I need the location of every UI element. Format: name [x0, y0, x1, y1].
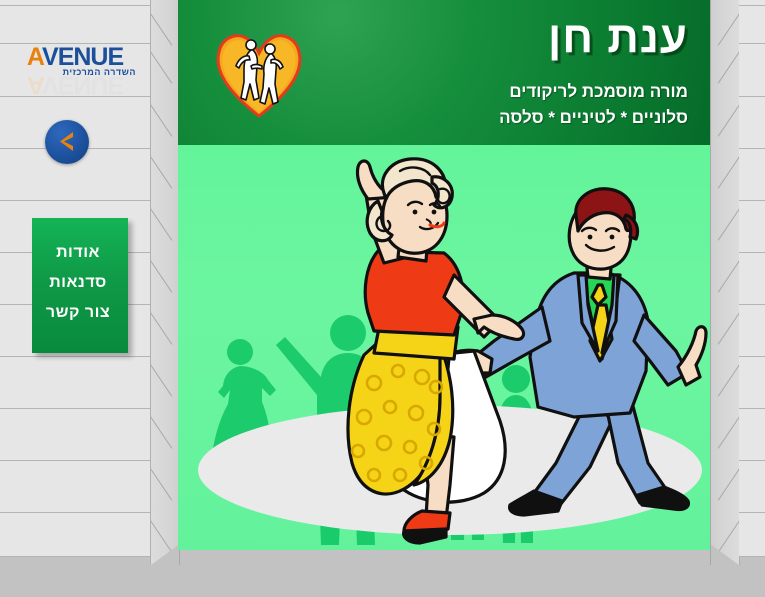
- page-title: ענת חן: [548, 16, 688, 60]
- page-root: AVENUE השדרה המרכזית AVENUE אודות סדנאות…: [0, 0, 765, 597]
- dancing-couple-illustration: [178, 145, 710, 550]
- header-subtitle-2: סלוניים * לטיניים * סלסה: [499, 108, 688, 128]
- back-button[interactable]: [45, 120, 89, 164]
- main-navigation: אודות סדנאות צור קשר: [32, 218, 128, 353]
- right-wall-side-perspective: [710, 0, 740, 565]
- avenue-logo-reflection-initial: A: [27, 71, 42, 99]
- avenue-logo-reflection: AVENUE: [8, 72, 142, 98]
- heart-with-dancing-couple-icon: [213, 22, 305, 120]
- hero-illustration: [178, 145, 710, 550]
- chevron-left-icon: [58, 132, 75, 151]
- avenue-logo-reflection-rest: VENUE: [42, 71, 123, 99]
- right-wall-face: [739, 0, 765, 557]
- site-header: ענת חן מורה מוסמכת לריקודים סלוניים * לט…: [178, 0, 710, 145]
- left-wall-side-perspective: [150, 0, 180, 565]
- nav-item-workshops[interactable]: סדנאות: [32, 268, 128, 298]
- avenue-logo-initial: A: [27, 43, 42, 71]
- header-subtitle-1: מורה מוסמכת לריקודים: [509, 82, 688, 102]
- nav-item-contact[interactable]: צור קשר: [32, 298, 128, 328]
- nav-item-about[interactable]: אודות: [32, 238, 128, 268]
- content-panel: ענת חן מורה מוסמכת לריקודים סלוניים * לט…: [178, 0, 710, 550]
- avenue-logo[interactable]: AVENUE השדרה המרכזית AVENUE: [8, 44, 142, 98]
